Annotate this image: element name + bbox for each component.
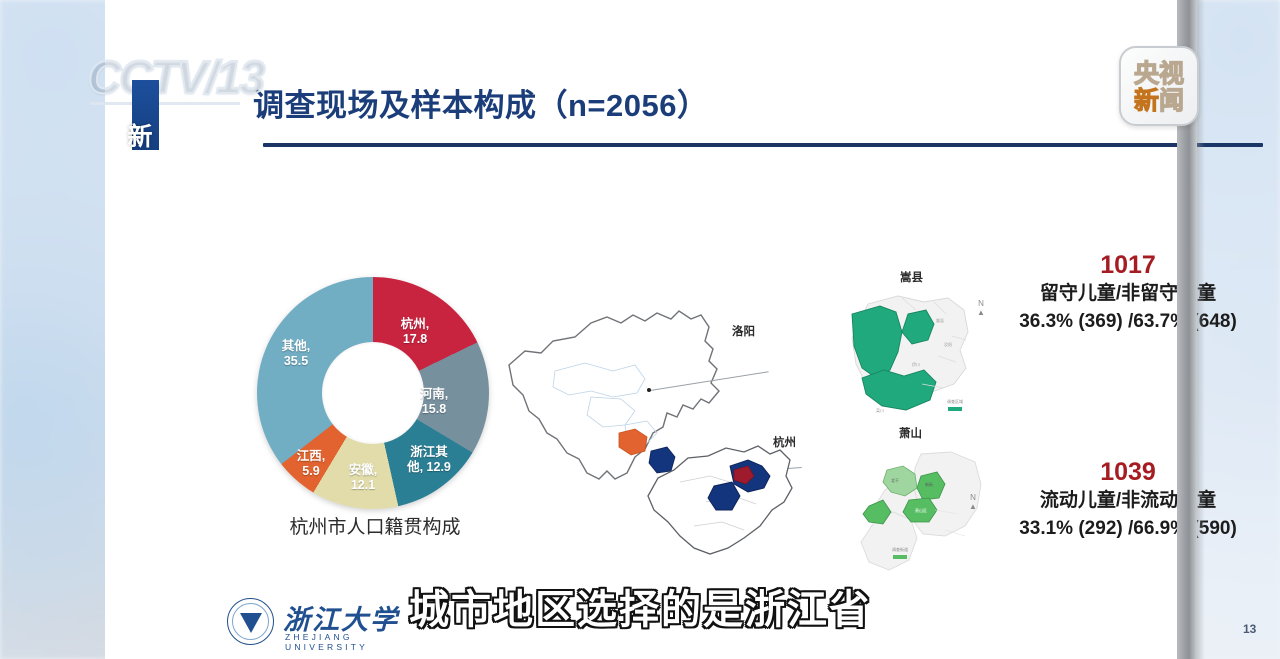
cctv-news-logo: 央视 新闻 [1119, 46, 1199, 126]
chart-caption: 杭州市人口籍贯构成 [225, 512, 525, 539]
stat-label-rural: 留守儿童/非留守儿童 [978, 280, 1278, 308]
stat-values-migrant: 33.1% (292) /66.9% (590) [978, 515, 1278, 543]
map-point-luoyang [647, 388, 651, 392]
svg-text:新街: 新街 [925, 481, 933, 487]
cctv13-wordmark: CCTV/13 [88, 50, 263, 104]
svg-text:萧山区: 萧山区 [915, 507, 927, 513]
legend-swatch-songxian [948, 407, 962, 411]
pie-slice-label-anhui: 安徽,12.1 [335, 463, 391, 493]
stat-number-rural: 1017 [978, 250, 1278, 280]
pie-slice-label-jiangxi: 江西,5.9 [285, 449, 337, 479]
legend-text-songxian: 调查区域 [947, 399, 963, 405]
pie-slice-label-henan: 河南,15.8 [403, 387, 465, 417]
stat-block-rural: 1017 留守儿童/非留守儿童 36.3% (369) /63.7% (648) [978, 250, 1278, 336]
map-label-luoyang: 洛阳 [732, 323, 755, 339]
cctv13-underline [90, 102, 240, 105]
compass-rose-xiaoshan: N▲ [969, 493, 977, 511]
svg-text:伊川: 伊川 [912, 361, 920, 367]
stat-block-migrant: 1039 流动儿童/非流动儿童 33.1% (292) /66.9% (590) [978, 457, 1278, 543]
map-label-xiaoshan: 萧山 [899, 425, 922, 441]
stat-values-rural: 36.3% (369) /63.7% (648) [978, 308, 1278, 336]
stat-number-migrant: 1039 [978, 457, 1278, 487]
page-title: 调查现场及样本构成（n=2056） [253, 80, 709, 125]
cctv-news-logo-wen: 闻 [1159, 81, 1184, 117]
legend-text-xiaoshan: 调查街道 [892, 547, 908, 553]
svg-text:栾川: 栾川 [876, 407, 884, 413]
burned-in-subtitle: 城市地区选择的是浙江省 [0, 577, 1280, 635]
svg-text:嵩县: 嵩县 [936, 317, 944, 323]
pie-chart: 杭州,17.8 河南,15.8 浙江其他, 12.9 安徽,12.1 江西,5.… [257, 277, 489, 509]
pie-slice-label-zhejiang-other: 浙江其他, 12.9 [397, 445, 461, 475]
map-label-songxian: 嵩县 [900, 269, 923, 285]
svg-text:北干: 北干 [891, 477, 899, 483]
stat-label-migrant: 流动儿童/非流动儿童 [978, 487, 1278, 515]
cctv13-channel-bug: CCTV/13 新 [88, 50, 263, 138]
university-name-en: ZHEJIANG UNIVERSITY [285, 632, 417, 652]
xiaoshan-inset-map: 北干 新街 萧山区 [825, 450, 985, 580]
pie-slice-label-other: 其他,35.5 [267, 339, 325, 369]
cctv13-xin-character: 新 [114, 118, 166, 152]
cctv-news-logo-line2: 新闻 [1121, 84, 1197, 114]
title-underline [263, 143, 1263, 147]
hangzhou-province-map [640, 430, 840, 580]
tv-broadcast-frame: 调查现场及样本构成（n=2056） 杭州,17.8 河南,15.8 浙江其他, … [0, 0, 1280, 659]
map-group: 洛阳 嵩县 杭州 萧山 嵩县 汝阳 伊川 栾川 [495, 255, 995, 565]
svg-text:汝阳: 汝阳 [944, 341, 952, 347]
legend-swatch-xiaoshan [893, 555, 907, 559]
pie-slice-label-hangzhou: 杭州,17.8 [383, 317, 447, 347]
cctv-news-logo-xin: 新 [1134, 81, 1159, 117]
presentation-slide: 调查现场及样本构成（n=2056） 杭州,17.8 河南,15.8 浙江其他, … [105, 0, 1177, 659]
